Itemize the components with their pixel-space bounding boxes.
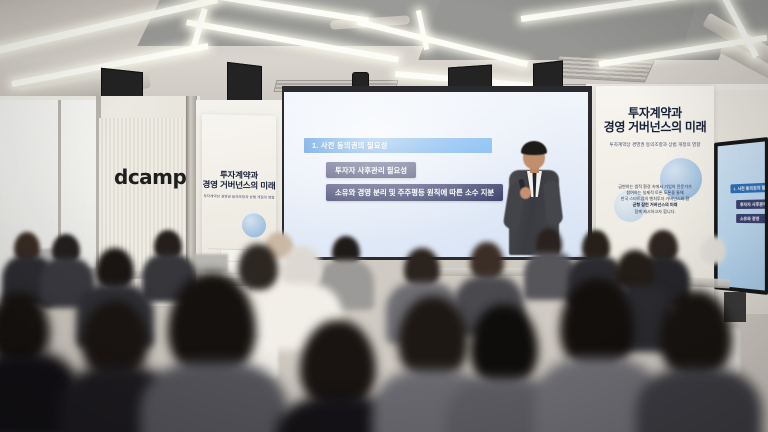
audience-head	[470, 242, 504, 280]
side-tv-screen: 1. 사전 동의권의 필요성 투자자 사후관리 소유와 경영	[718, 141, 765, 290]
slide-bullet-text: 투자자 사후관리 필요성	[326, 165, 416, 176]
audience-head	[168, 272, 256, 376]
banner-right-body: 급변하는 법적 환경 속에서 기업의 전문가가 참여하는 실제적 토론 도론을 …	[596, 184, 714, 215]
banner-left-title-line2: 경영 거버넌스의 미래	[202, 179, 276, 191]
audience-head	[470, 304, 538, 386]
tv-slide-bullet-text: 소유와 경영	[736, 215, 759, 221]
tv-slide-bullet: 투자자 사후관리	[736, 199, 765, 209]
banner-right-title-line2: 경영 거버넌스의 미래	[596, 120, 714, 134]
side-tv-monitor: 1. 사전 동의권의 필요성 투자자 사후관리 소유와 경영	[714, 137, 768, 295]
dcamp-logo: dcamp	[114, 165, 184, 189]
audience-head	[300, 320, 376, 408]
banner-body-line: 함께 제시하고자 합니다.	[606, 209, 704, 215]
tv-slide-header: 1. 사전 동의권의 필요성	[731, 182, 765, 193]
tv-slide-bullet: 소유와 경영	[736, 214, 765, 223]
slide-section-header: 1. 사전 동의권의 필요성	[304, 138, 492, 153]
audience-head	[398, 296, 468, 380]
tv-slide-bullet-text: 투자자 사후관리	[736, 201, 765, 208]
presenter-hand	[520, 187, 531, 199]
slide-bullet-pill: 소유와 경영 분리 및 주주평등 원칙에 따른 소수 지분	[326, 184, 503, 201]
banner-left-title: 투자계약과 경영 거버넌스의 미래	[202, 169, 276, 191]
audience-head	[238, 244, 278, 290]
audience-head	[700, 236, 726, 264]
laptop-lid	[194, 254, 228, 272]
presenter-hair	[521, 141, 547, 155]
audience-head	[560, 278, 634, 370]
banner-left-circle-graphic	[242, 213, 266, 238]
banner-right-title-line1: 투자계약과	[596, 106, 714, 120]
audience-body	[140, 362, 288, 432]
audience-head	[660, 290, 732, 378]
banner-right-title: 투자계약과 경영 거버넌스의 미래	[596, 106, 714, 134]
banner-left-subtitle: 투자계약상 경영권 동의조항과 상법 개정의 영향	[202, 194, 276, 201]
slide-section-header-text: 1. 사전 동의권의 필요성	[304, 141, 388, 151]
tv-slide-header-text: 1. 사전 동의권의 필요성	[731, 184, 765, 192]
slide-bullet-pill: 투자자 사후관리 필요성	[326, 162, 416, 178]
audience-body	[636, 368, 762, 432]
slide-bullet-text: 소유와 경영 분리 및 주주평등 원칙에 따른 소수 지분	[326, 187, 503, 198]
banner-right-subtitle: 투자계약상 경영권 동의조항과 상법 개정의 영향	[596, 142, 714, 148]
conference-photo-scene: dcamp 투자계약과 경영 거버넌스의 미래 투자계약상 경영권 동의조항과 …	[0, 0, 768, 432]
